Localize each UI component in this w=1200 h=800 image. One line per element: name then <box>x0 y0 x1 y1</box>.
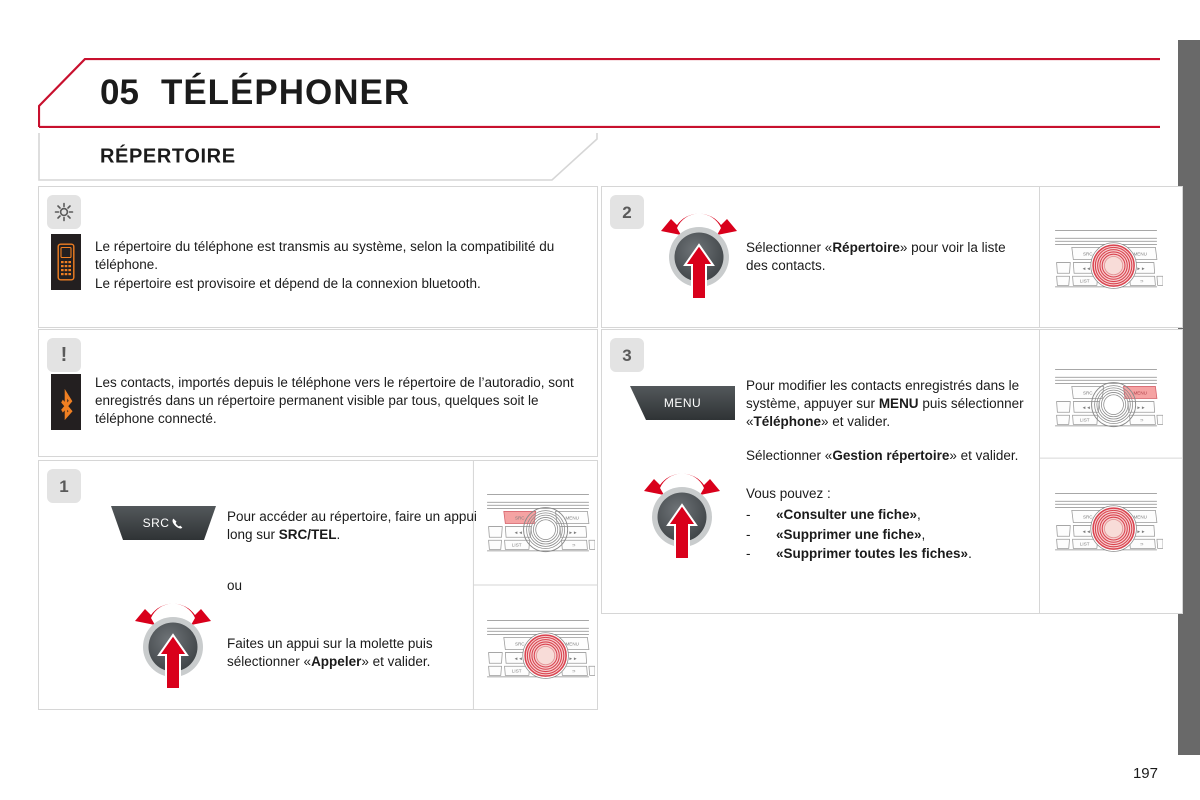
page-number: 197 <box>1133 765 1158 782</box>
chapter-number: 05 <box>100 73 139 113</box>
list-dash: - <box>746 505 776 525</box>
list-label-tail: , <box>917 507 921 522</box>
svg-text:►►: ►► <box>568 530 577 535</box>
svg-text:SRC: SRC <box>515 642 525 647</box>
faceplate-src-glyph: SRC MENU ◄◄ ►► LIST ⊃ <box>481 483 595 561</box>
step-3-box: 3 MENU Pour modifier les contacts enregi… <box>601 329 1183 614</box>
list-item: - «Supprimer une fiche», <box>746 525 1036 545</box>
list-label-text: «Supprimer toutes les fiches» <box>776 546 968 561</box>
list-dash: - <box>746 525 776 545</box>
svg-text:◄◄: ◄◄ <box>1082 529 1091 534</box>
svg-text:SRC: SRC <box>515 516 525 521</box>
faceplate-menu-glyph: SRC MENU ◄◄ ►► LIST ⊃ <box>1049 358 1163 436</box>
faceplate-knob-glyph-3: SRC MENU ◄◄ ►► LIST ⊃ <box>1049 482 1163 560</box>
step-2-number: 2 <box>622 204 631 221</box>
rotary-knob-icon[interactable] <box>647 205 751 305</box>
step-1-text-prefix: Pour accéder au répertoire, faire un app… <box>227 509 477 542</box>
src-tel-key[interactable]: SRC <box>111 506 216 540</box>
menu-key-label: MENU <box>664 396 701 410</box>
step-3-p2-bold: Gestion répertoire <box>832 448 949 463</box>
bluetooth-icon <box>51 374 81 430</box>
svg-text:⊃: ⊃ <box>1140 417 1144 422</box>
note-box-tip: Le répertoire du téléphone est transmis … <box>38 186 598 328</box>
step-3-badge: 3 <box>610 338 644 372</box>
chapter-header: 05 TÉLÉPHONER <box>38 58 1160 128</box>
rotary-knob-icon[interactable] <box>630 465 734 565</box>
src-key-label: SRC <box>143 516 170 530</box>
faceplate-menu-highlighted: SRC MENU ◄◄ ►► LIST ⊃ <box>1049 358 1163 436</box>
svg-text:MENU: MENU <box>1134 391 1147 396</box>
step-2-text: Sélectionner «Répertoire» pour voir la l… <box>746 239 1026 275</box>
svg-text:◄◄: ◄◄ <box>514 530 523 535</box>
menu-key[interactable]: MENU <box>630 386 735 420</box>
step-1-text-suffix: . <box>337 527 341 542</box>
step-3-number: 3 <box>622 347 631 364</box>
svg-text:LIST: LIST <box>1080 278 1090 283</box>
exclamation-glyph: ! <box>61 345 68 365</box>
step-1-text: Pour accéder au répertoire, faire un app… <box>227 508 477 544</box>
svg-text:◄◄: ◄◄ <box>514 656 523 661</box>
list-label-text: «Consulter une fiche» <box>776 507 917 522</box>
rotary-knob-glyph <box>647 205 751 305</box>
svg-text:LIST: LIST <box>512 542 522 547</box>
list-label: «Supprimer une fiche», <box>776 525 925 545</box>
rotary-knob-icon[interactable] <box>121 595 225 695</box>
note-warning-text: Les contacts, importés depuis le télépho… <box>95 374 595 427</box>
svg-text:◄◄: ◄◄ <box>1082 266 1091 271</box>
svg-text:⊃: ⊃ <box>1140 278 1144 283</box>
bluetooth-glyph <box>56 383 76 421</box>
mobile-phone-icon <box>51 234 81 290</box>
faceplate-knob-highlighted-step1: SRC MENU ◄◄ ►► LIST ⊃ <box>481 609 595 687</box>
tip-sun-icon <box>47 195 81 229</box>
svg-text:⊃: ⊃ <box>572 668 576 673</box>
step-2-box: 2 Sélectionner «Répertoire» pour voir la… <box>601 186 1183 328</box>
svg-text:SRC: SRC <box>1083 252 1093 257</box>
faceplate-knob-highlighted-step2: SRC MENU ◄◄ ►► LIST ⊃ <box>1049 219 1163 297</box>
svg-text:►►: ►► <box>1136 529 1145 534</box>
step-3-paragraph-3: Vous pouvez : <box>746 485 831 503</box>
svg-text:⊃: ⊃ <box>572 542 576 547</box>
step-1-number: 1 <box>59 478 68 495</box>
phone-handset-icon <box>171 517 184 530</box>
step-1-knob-text: Faites un appui sur la molette puis séle… <box>227 635 467 671</box>
svg-text:►►: ►► <box>1136 266 1145 271</box>
step-3-p2-b: » et valider. <box>949 448 1018 463</box>
step-2-badge: 2 <box>610 195 644 229</box>
mobile-phone-glyph <box>57 243 75 281</box>
step-3-p2-a: Sélectionner « <box>746 448 832 463</box>
step-1-alternative: ou <box>227 577 242 595</box>
svg-text:◄◄: ◄◄ <box>1082 405 1091 410</box>
svg-text:SRC: SRC <box>1083 391 1093 396</box>
list-label-tail: . <box>968 546 972 561</box>
svg-text:MENU: MENU <box>1134 252 1147 257</box>
list-item: - «Consulter une fiche», <box>746 505 1036 525</box>
step-1-knob-bold: Appeler <box>311 654 361 669</box>
faceplate-src-highlighted: SRC MENU ◄◄ ►► LIST ⊃ <box>481 483 595 561</box>
section-title: RÉPERTOIRE <box>100 146 236 169</box>
svg-text:LIST: LIST <box>1080 541 1090 546</box>
step-3-paragraph-1: Pour modifier les contacts enregistrés d… <box>746 377 1036 430</box>
list-dash: - <box>746 544 776 564</box>
chapter-title: TÉLÉPHONER <box>161 73 410 113</box>
step-1-badge: 1 <box>47 469 81 503</box>
section-header: RÉPERTOIRE <box>38 133 598 181</box>
faceplate-knob-highlighted-step3: SRC MENU ◄◄ ►► LIST ⊃ <box>1049 482 1163 560</box>
svg-text:SRC: SRC <box>1083 515 1093 520</box>
note-tip-line-1: Le répertoire du téléphone est transmis … <box>95 238 585 274</box>
faceplate-knob-glyph-1: SRC MENU ◄◄ ►► LIST ⊃ <box>481 609 595 687</box>
src-key-label-group: SRC <box>143 516 185 530</box>
faceplate-knob-glyph-2: SRC MENU ◄◄ ►► LIST ⊃ <box>1049 219 1163 297</box>
note-tip-line-2: Le répertoire est provisoire et dépend d… <box>95 275 595 293</box>
list-label: «Consulter une fiche», <box>776 505 921 525</box>
step-3-paragraph-2: Sélectionner «Gestion répertoire» et val… <box>746 447 1036 465</box>
exclamation-icon: ! <box>47 338 81 372</box>
list-label-tail: , <box>922 527 926 542</box>
svg-text:►►: ►► <box>1136 405 1145 410</box>
list-item: - «Supprimer toutes les fiches». <box>746 544 1036 564</box>
step-3-p1-bold1: MENU <box>879 396 919 411</box>
svg-text:LIST: LIST <box>512 668 522 673</box>
step-3-options-list: - «Consulter une fiche», - «Supprimer un… <box>746 505 1036 564</box>
list-label: «Supprimer toutes les fiches». <box>776 544 972 564</box>
step-1-text-bold: SRC/TEL <box>279 527 337 542</box>
list-label-text: «Supprimer une fiche» <box>776 527 922 542</box>
step-2-text-prefix: Sélectionner « <box>746 240 832 255</box>
step-2-text-bold: Répertoire <box>832 240 900 255</box>
note-box-warning: ! Les contacts, importés depuis le télép… <box>38 329 598 457</box>
svg-text:►►: ►► <box>568 656 577 661</box>
svg-text:MENU: MENU <box>1134 515 1147 520</box>
step-3-p1-c: » et valider. <box>821 414 890 429</box>
step-3-p1-bold2: Téléphone <box>754 414 822 429</box>
step-1-box: 1 SRC Pour accéder au répertoire, faire … <box>38 460 598 710</box>
svg-text:MENU: MENU <box>566 642 579 647</box>
step-1-knob-suffix: » et valider. <box>361 654 430 669</box>
svg-text:MENU: MENU <box>566 516 579 521</box>
svg-text:LIST: LIST <box>1080 417 1090 422</box>
rotary-knob-glyph <box>121 595 225 695</box>
svg-text:⊃: ⊃ <box>1140 541 1144 546</box>
tip-sun-glyph <box>53 201 75 223</box>
rotary-knob-glyph <box>630 465 734 565</box>
